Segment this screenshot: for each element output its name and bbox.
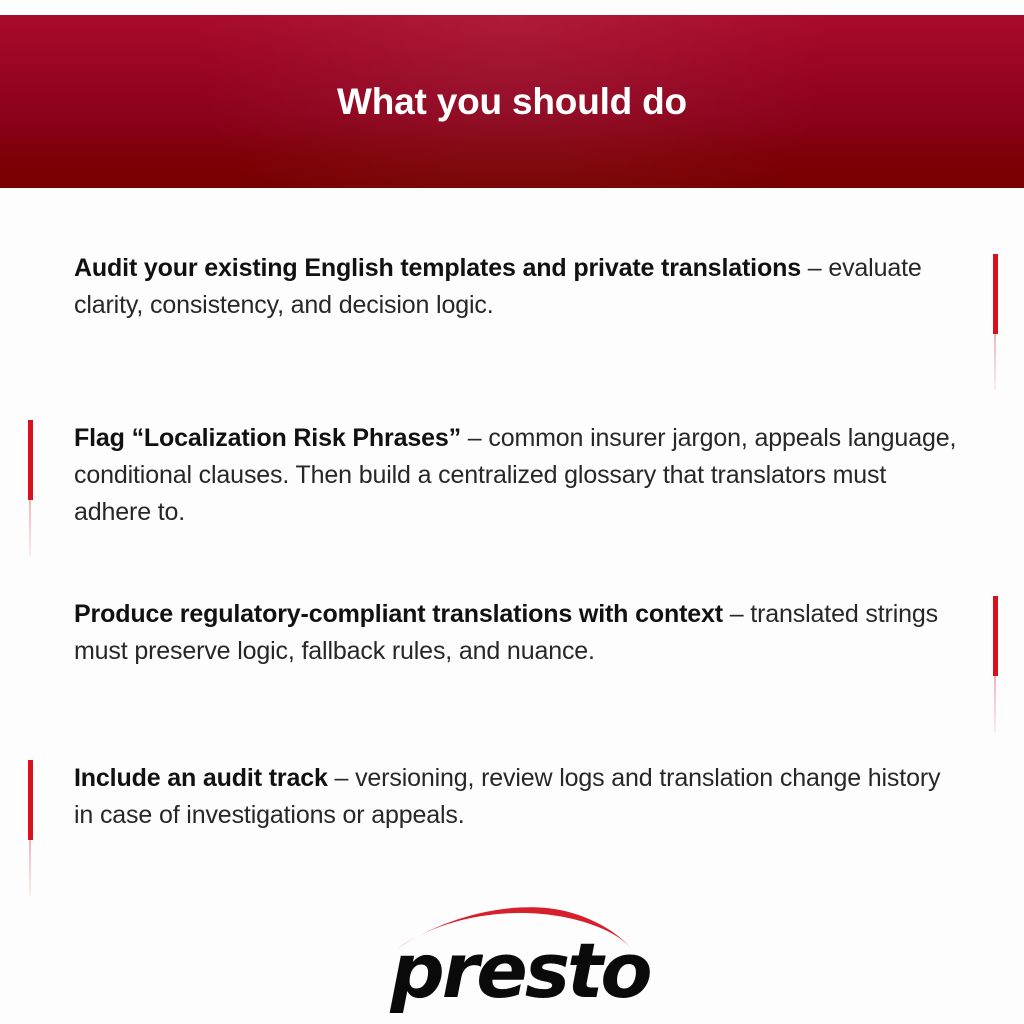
presto-logo: presto bbox=[389, 905, 651, 1005]
accent-bar-left bbox=[28, 760, 33, 896]
bullet-lead: Flag “Localization Risk Phrases” bbox=[74, 424, 461, 452]
accent-bar-solid bbox=[993, 254, 998, 334]
bullet-lead: Audit your existing English templates an… bbox=[74, 254, 801, 282]
accent-bar-fade bbox=[29, 500, 31, 556]
bullet-lead: Include an audit track bbox=[74, 764, 328, 792]
accent-bar-fade bbox=[994, 334, 996, 390]
list-item: Audit your existing English templates an… bbox=[74, 250, 954, 324]
bullet-lead: Produce regulatory-compliant translation… bbox=[74, 600, 723, 628]
accent-bar-right bbox=[993, 254, 998, 390]
page-title: What you should do bbox=[0, 15, 1024, 188]
accent-bar-right bbox=[993, 596, 998, 732]
bullet-text: Include an audit track – versioning, rev… bbox=[74, 760, 954, 834]
accent-bar-fade bbox=[994, 676, 996, 732]
accent-bar-solid bbox=[993, 596, 998, 676]
accent-bar-solid bbox=[28, 760, 33, 840]
header-banner: What you should do bbox=[0, 15, 1024, 188]
accent-bar-left bbox=[28, 420, 33, 556]
list-item: Include an audit track – versioning, rev… bbox=[74, 760, 954, 834]
list-item: Produce regulatory-compliant translation… bbox=[74, 596, 964, 670]
bullet-text: Produce regulatory-compliant translation… bbox=[74, 596, 964, 670]
slide: What you should do Audit your existing E… bbox=[0, 0, 1024, 1024]
bullet-list: Audit your existing English templates an… bbox=[0, 188, 1024, 888]
bullet-text: Flag “Localization Risk Phrases” – commo… bbox=[74, 420, 964, 531]
accent-bar-solid bbox=[28, 420, 33, 500]
accent-bar-fade bbox=[29, 840, 31, 896]
logo-wordmark: presto bbox=[389, 933, 651, 1009]
list-item: Flag “Localization Risk Phrases” – commo… bbox=[74, 420, 964, 531]
bullet-text: Audit your existing English templates an… bbox=[74, 250, 954, 324]
